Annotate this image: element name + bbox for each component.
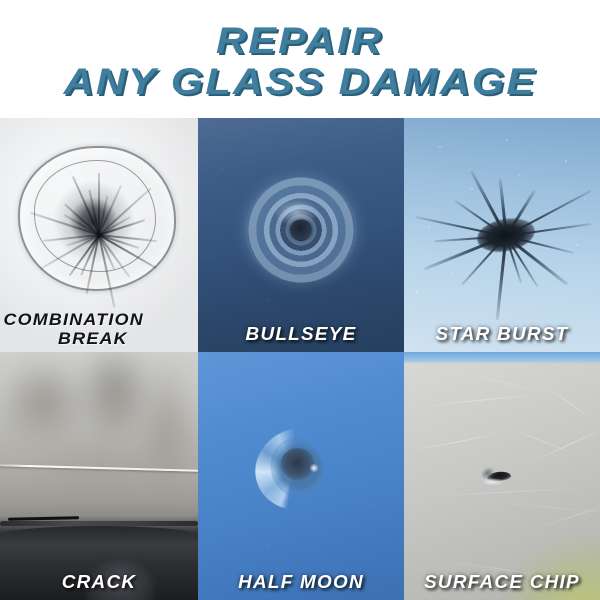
- glass-speck: [428, 226, 430, 228]
- damage-type-grid: COMBINATION BREAK BULLSEYE STAR BURST: [0, 118, 600, 600]
- bullseye-photo: [198, 118, 404, 352]
- damage-cell-surface-chip[interactable]: SURFACE CHIP: [404, 352, 600, 600]
- damage-caption-crack: CRACK: [0, 573, 198, 592]
- bullseye-rings: [245, 177, 357, 283]
- glass-scratch: [412, 392, 549, 407]
- crack-photo: [0, 352, 198, 600]
- surface-chip-photo: [404, 352, 600, 600]
- caption-line-1: COMBINATION: [3, 310, 143, 329]
- glass-speck: [584, 198, 586, 200]
- glass-scratch: [408, 432, 508, 452]
- glass-speck: [439, 146, 441, 148]
- surface-chip-mark: [480, 465, 516, 486]
- glass-speck: [541, 282, 543, 284]
- chip-lower-highlight: [484, 478, 504, 486]
- half-moon-photo: [198, 352, 404, 600]
- glass-scratch: [533, 425, 600, 462]
- poster-root: REPAIR ANY GLASS DAMAGE COMBINATION BREA…: [0, 0, 600, 600]
- damage-cell-half-moon[interactable]: HALF MOON: [198, 352, 404, 600]
- glass-speck: [506, 139, 508, 141]
- glass-speck: [576, 244, 578, 246]
- glass-speck: [518, 174, 520, 176]
- damage-caption-star-burst: STAR BURST: [404, 325, 600, 344]
- glass-scratch: [525, 497, 600, 532]
- caption-line-2: BREAK: [3, 330, 198, 348]
- glass-speck: [490, 305, 492, 307]
- glass-speck: [471, 188, 473, 190]
- damage-cell-bullseye[interactable]: BULLSEYE: [198, 118, 404, 352]
- glass-scratch: [463, 372, 551, 395]
- sky-strip: [404, 352, 600, 364]
- poster-title-line-2: ANY GLASS DAMAGE: [64, 63, 537, 101]
- poster-header: REPAIR ANY GLASS DAMAGE: [0, 0, 600, 118]
- damage-cell-combination-break[interactable]: COMBINATION BREAK: [0, 118, 198, 352]
- damage-caption-half-moon: HALF MOON: [198, 573, 404, 592]
- glass-speck: [416, 291, 418, 293]
- glass-scratch: [424, 487, 588, 497]
- half-moon-glint: [309, 464, 319, 472]
- poster-title-line-1: REPAIR: [217, 22, 384, 60]
- glass-speck: [565, 160, 567, 162]
- bullseye-impact-core: [290, 220, 312, 240]
- damage-cell-crack[interactable]: CRACK: [0, 352, 198, 600]
- glass-speck: [451, 272, 453, 274]
- glass-scratch: [541, 382, 595, 422]
- star-burst-photo: [404, 118, 600, 352]
- glass-scratch: [506, 426, 579, 456]
- damage-caption-combination-break: COMBINATION BREAK: [0, 311, 198, 348]
- dashboard-edge: [0, 521, 198, 526]
- damage-caption-surface-chip: SURFACE CHIP: [404, 573, 600, 592]
- damage-cell-star-burst[interactable]: STAR BURST: [404, 118, 600, 352]
- damage-caption-bullseye: BULLSEYE: [198, 325, 404, 344]
